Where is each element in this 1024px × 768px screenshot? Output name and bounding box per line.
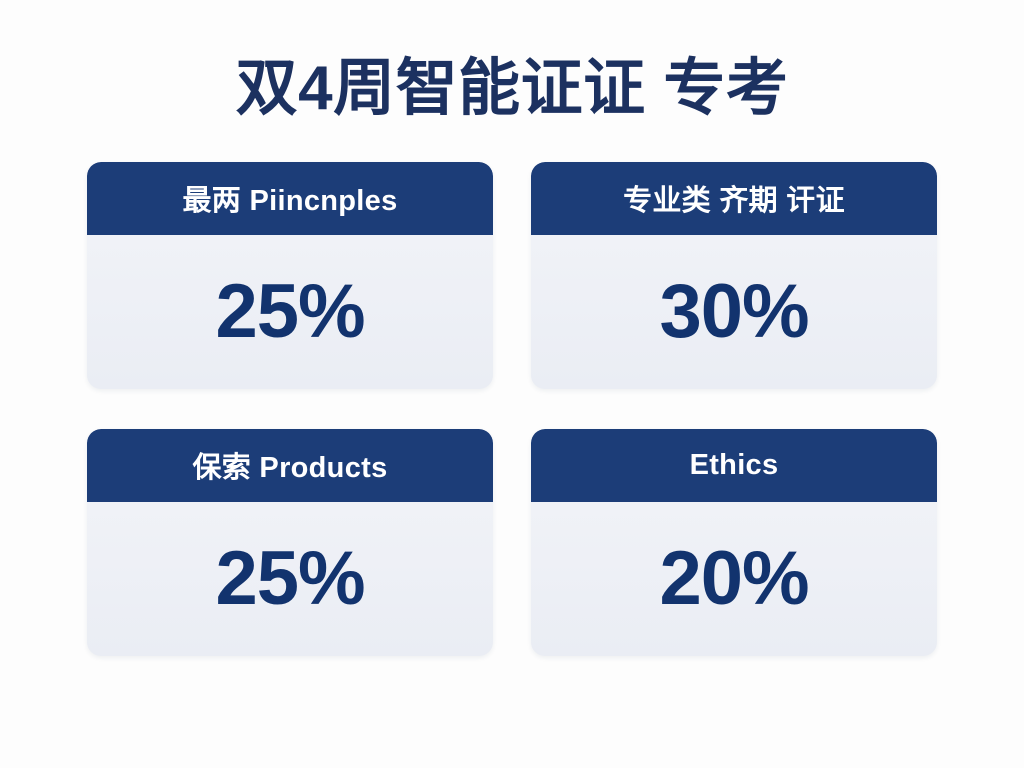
weight-card[interactable]: 最两 Piincnples 25% — [87, 162, 493, 389]
card-percent-value: 20% — [659, 541, 808, 617]
card-percent-value: 25% — [215, 274, 364, 350]
card-header: 保索 Products — [87, 429, 493, 502]
card-percent-value: 30% — [659, 274, 808, 350]
card-header-label: 专业类 齐期 讦证 — [623, 177, 845, 219]
weight-card[interactable]: 专业类 齐期 讦证 30% — [531, 162, 937, 389]
card-header: Ethics — [531, 429, 937, 502]
card-body: 25% — [87, 235, 493, 389]
page-title: 双4周智能证证 专考 — [236, 56, 789, 122]
card-body: 30% — [531, 235, 937, 389]
card-header-label: 最两 Piincnples — [183, 177, 398, 219]
card-header: 专业类 齐期 讦证 — [531, 162, 937, 235]
card-header-label: Ethics — [690, 449, 779, 482]
card-header: 最两 Piincnples — [87, 162, 493, 235]
weight-card-grid: 最两 Piincnples 25% 专业类 齐期 讦证 30% 保索 Produ… — [87, 162, 937, 656]
weight-card[interactable]: 保索 Products 25% — [87, 429, 493, 656]
weight-card[interactable]: Ethics 20% — [531, 429, 937, 656]
card-header-label: 保索 Products — [192, 444, 387, 486]
card-percent-value: 25% — [215, 541, 364, 617]
slide-root: 双4周智能证证 专考 最两 Piincnples 25% 专业类 齐期 讦证 3… — [0, 0, 1024, 768]
card-body: 25% — [87, 502, 493, 656]
card-body: 20% — [531, 502, 937, 656]
